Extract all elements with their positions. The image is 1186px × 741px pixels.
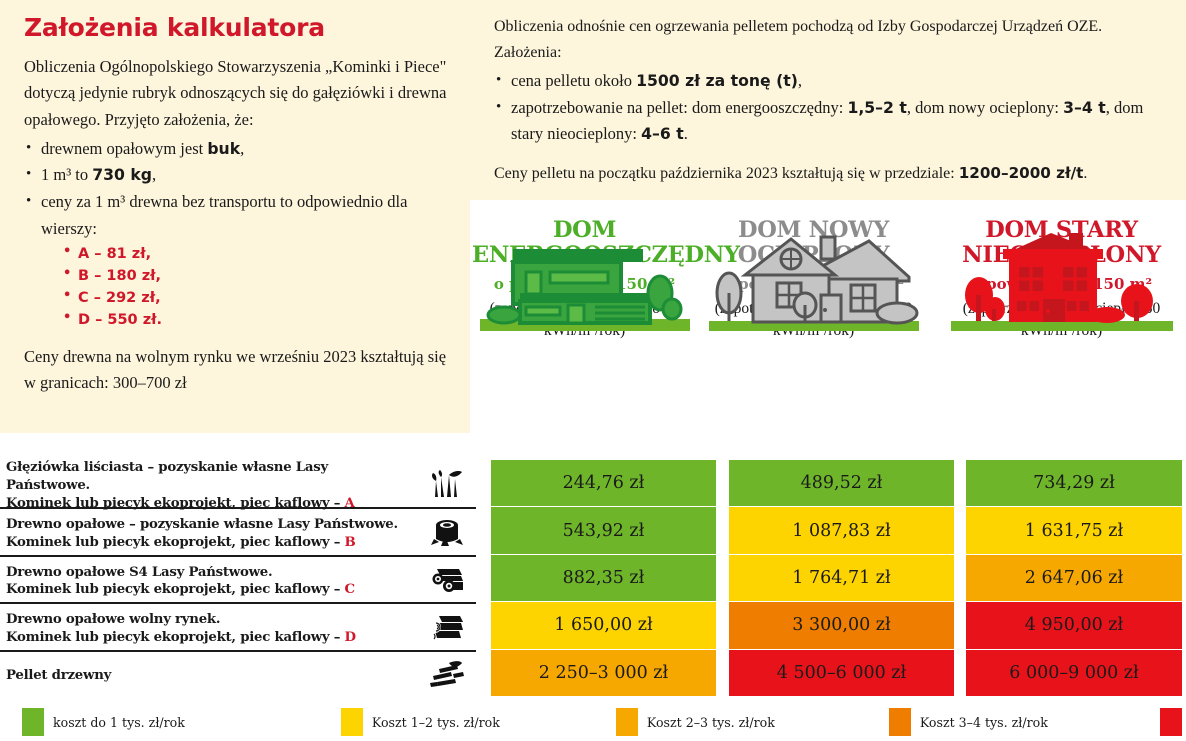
value-cell: 1 764,71 zł [729, 555, 954, 602]
row-letter: D [345, 630, 356, 645]
round-logs-icon [419, 555, 476, 602]
legend-swatch-yellow [341, 708, 363, 736]
value-cell: 2 250–3 000 zł [491, 650, 716, 697]
row-label: Drewno opałowe S4 Lasy Państwowe. Komine… [0, 555, 419, 602]
house-column-headers: DOM ENERGOOSZCZĘDNY o powierzchni 150 m²… [470, 205, 1186, 460]
row-label: Drewno opałowe wolny rynek. Kominek lub … [0, 602, 419, 649]
legend-swatch-dark-orange [889, 708, 911, 736]
legend-label: Koszt 2–3 tys. zł/rok [647, 715, 775, 730]
legend-item: Koszt 2–3 tys. zł/rok [616, 708, 775, 736]
left-closing-text: Ceny drewna na wolnym rynku we wrześniu … [24, 344, 448, 397]
row-label: Głęziówka liściasta – pozyskanie własne … [0, 460, 419, 507]
list-item: cena pelletu około 1500 zł za tonę (t), [494, 68, 1160, 95]
twigs-branches-icon [419, 460, 476, 507]
modern-green-house-icon [472, 231, 697, 341]
row-label: Drewno opałowe – pozyskanie własne Lasy … [0, 507, 419, 554]
legend-label: koszt do 1 tys. zł/rok [53, 715, 185, 730]
value-cell: 543,92 zł [491, 507, 716, 554]
row-letter: B [345, 535, 356, 550]
value-cell: 4 500–6 000 zł [729, 650, 954, 697]
split-logs-icon [419, 602, 476, 649]
row-value-cells: 882,35 zł 1 764,71 zł 2 647,06 zł [476, 555, 1186, 602]
value-cell: 734,29 zł [966, 460, 1182, 507]
table-row: Pellet drzewny 2 250–3 000 zł 4 500–6 [0, 650, 1186, 697]
table-row: Drewno opałowe wolny rynek. Kominek lub … [0, 602, 1186, 649]
right-closing-text: Ceny pelletu na początku października 20… [494, 161, 1160, 187]
legend-label: Koszt 3–4 tys. zł/rok [920, 715, 1048, 730]
list-item: D – 550 zł. [63, 309, 448, 331]
value-cell: 1 631,75 zł [966, 507, 1182, 554]
value-cell: 4 950,00 zł [966, 602, 1182, 649]
gabled-gray-house-icon [701, 231, 926, 341]
list-item: 1 m³ to 730 kg, [24, 162, 448, 189]
value-cell: 244,76 zł [491, 460, 716, 507]
column-header-new-insulated: DOM NOWY OCIEPLONY o powierzchni 150 m² … [701, 205, 926, 341]
value-cell: 3 300,00 zł [729, 602, 954, 649]
calculator-assumptions-panel: Założenia kalkulatora Obliczenia Ogólnop… [0, 0, 470, 433]
row-value-cells: 244,76 zł 489,52 zł 734,29 zł [476, 460, 1186, 507]
value-cell: 2 647,06 zł [966, 555, 1182, 602]
list-item: C – 292 zł, [63, 287, 448, 309]
legend-item: Koszt powyżej 4 tys. zł/rok [1160, 708, 1186, 736]
legend-item: koszt do 1 tys. zł/rok [22, 708, 185, 736]
color-legend: koszt do 1 tys. zł/rok Koszt 1–2 tys. zł… [0, 703, 1186, 741]
table-row: Drewno opałowe – pozyskanie własne Lasy … [0, 507, 1186, 554]
tree-stump-icon [419, 507, 476, 554]
legend-item: Koszt 1–2 tys. zł/rok [341, 708, 500, 736]
value-cell: 882,35 zł [491, 555, 716, 602]
pellets-icon [419, 650, 476, 697]
list-item: zapotrzebowanie na pellet: dom energoosz… [494, 95, 1160, 148]
legend-item: Koszt 3–4 tys. zł/rok [889, 708, 1048, 736]
left-intro-text: Obliczenia Ogólnopolskiego Stowarzyszeni… [24, 54, 448, 134]
column-header-energy-efficient: DOM ENERGOOSZCZĘDNY o powierzchni 150 m²… [472, 205, 697, 341]
legend-label: Koszt 1–2 tys. zł/rok [372, 715, 500, 730]
table-row: Głęziówka liściasta – pozyskanie własne … [0, 460, 1186, 507]
column-header-old-uninsulated: DOM STARY NIEOCIEPLONY o powierzchni 150… [937, 205, 1186, 341]
legend-swatch-red [1160, 708, 1182, 736]
page-title: Założenia kalkulatora [24, 14, 448, 42]
cost-comparison-table: Głęziówka liściasta – pozyskanie własne … [0, 460, 1186, 698]
list-item: ceny za 1 m³ drewna bez transportu to od… [24, 189, 448, 331]
left-bullet-list: drewnem opałowym jest buk, 1 m³ to 730 k… [24, 136, 448, 331]
legend-swatch-green [22, 708, 44, 736]
list-item: A – 81 zł, [63, 243, 448, 265]
two-storey-red-house-icon [937, 231, 1186, 341]
pellet-assumptions-panel: Obliczenia odnośnie cen ogrzewania pelle… [470, 0, 1186, 200]
row-value-cells: 1 650,00 zł 3 300,00 zł 4 950,00 zł [476, 602, 1186, 649]
row-value-cells: 2 250–3 000 zł 4 500–6 000 zł 6 000–9 00… [476, 650, 1186, 697]
value-cell: 1 087,83 zł [729, 507, 954, 554]
table-row: Drewno opałowe S4 Lasy Państwowe. Komine… [0, 555, 1186, 602]
infographic-page: Założenia kalkulatora Obliczenia Ogólnop… [0, 0, 1186, 741]
row-value-cells: 543,92 zł 1 087,83 zł 1 631,75 zł [476, 507, 1186, 554]
list-item: B – 180 zł, [63, 265, 448, 287]
value-cell: 489,52 zł [729, 460, 954, 507]
price-sub-list: A – 81 zł, B – 180 zł, C – 292 zł, D – 5… [41, 243, 448, 331]
list-item: drewnem opałowym jest buk, [24, 136, 448, 163]
row-letter: C [345, 582, 355, 597]
legend-swatch-orange [616, 708, 638, 736]
row-label: Pellet drzewny [0, 650, 419, 697]
value-cell: 6 000–9 000 zł [966, 650, 1182, 697]
right-intro-text: Obliczenia odnośnie cen ogrzewania pelle… [494, 14, 1160, 66]
right-bullet-list: cena pelletu około 1500 zł za tonę (t), … [494, 68, 1160, 148]
value-cell: 1 650,00 zł [491, 602, 716, 649]
